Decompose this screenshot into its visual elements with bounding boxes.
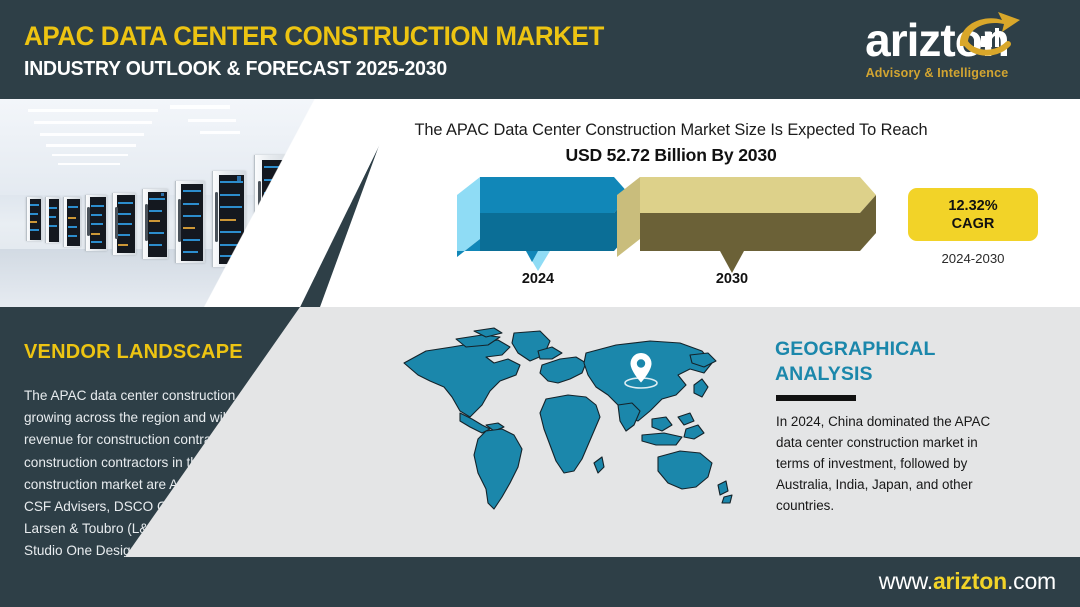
- world-map-svg: [390, 325, 750, 540]
- cagr-range: 2024-2030: [908, 251, 1038, 266]
- growth-arrow-icon: [950, 10, 1030, 66]
- bar-2030: [617, 177, 876, 273]
- page-header: APAC DATA CENTER CONSTRUCTION MARKET IND…: [0, 0, 1080, 99]
- bar-label-2030: 2030: [682, 271, 782, 287]
- page-subtitle: INDUSTRY OUTLOOK & FORECAST 2025-2030: [24, 58, 447, 81]
- section-divider: [776, 395, 856, 401]
- cagr-value: 12.32%: [948, 197, 997, 215]
- logo-tagline: Advisory & Intelligence: [812, 66, 1062, 80]
- arizton-logo[interactable]: arizton Advisory & Intelligence: [812, 14, 1062, 88]
- url-prefix: www.: [879, 568, 933, 594]
- cagr-label: CAGR: [952, 215, 995, 233]
- url-brand: arizton: [933, 568, 1007, 594]
- website-url[interactable]: www.arizton.com: [879, 568, 1056, 595]
- world-map: [390, 325, 750, 540]
- forecast-panel: The APAC Data Center Construction Market…: [320, 99, 1080, 307]
- page-title: APAC DATA CENTER CONSTRUCTION MARKET: [24, 21, 604, 52]
- url-suffix: .com: [1007, 568, 1056, 594]
- cagr-badge: 12.32% CAGR: [908, 188, 1038, 241]
- geographical-analysis-title: GEOGRAPHICAL ANALYSIS: [775, 337, 1005, 387]
- bar-label-2024: 2024: [488, 271, 588, 287]
- vendor-landscape-title: VENDOR LANDSCAPE: [24, 341, 243, 364]
- geographical-analysis-body: In 2024, China dominated the APAC data c…: [776, 411, 1011, 516]
- bar-2024: [457, 177, 630, 271]
- page-footer: www.arizton.com: [0, 557, 1080, 607]
